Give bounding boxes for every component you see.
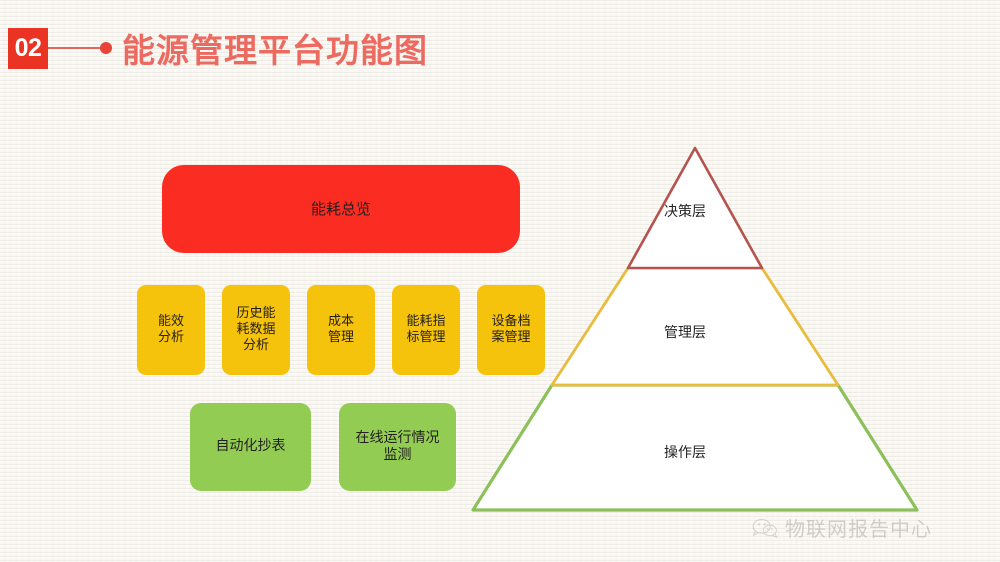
pyramid-label-management: 管理层 xyxy=(635,322,735,342)
function-box-online-operation-monitoring[interactable]: 在线运行情况监测 xyxy=(339,403,456,491)
function-box-energy-efficiency-analysis[interactable]: 能效分析 xyxy=(137,285,205,375)
slide-canvas: 02 能源管理平台功能图 能耗总览 能效分析 历史能耗数据分析 成本管理 能耗指… xyxy=(0,0,1000,562)
function-box-energy-index-management[interactable]: 能耗指标管理 xyxy=(392,285,460,375)
pyramid-label-operations: 操作层 xyxy=(635,442,735,462)
wechat-icon xyxy=(752,517,778,539)
watermark-text: 物联网报告中心 xyxy=(785,513,932,542)
function-box-cost-management[interactable]: 成本管理 xyxy=(307,285,375,375)
function-box-history-energy-data-analysis[interactable]: 历史能耗数据分析 xyxy=(222,285,290,375)
watermark: 物联网报告中心 xyxy=(752,513,932,542)
pyramid-label-decision: 决策层 xyxy=(635,201,735,221)
function-box-automatic-meter-reading[interactable]: 自动化抄表 xyxy=(190,403,311,491)
pyramid-diagram: 决策层 管理层 操作层 xyxy=(460,130,930,530)
